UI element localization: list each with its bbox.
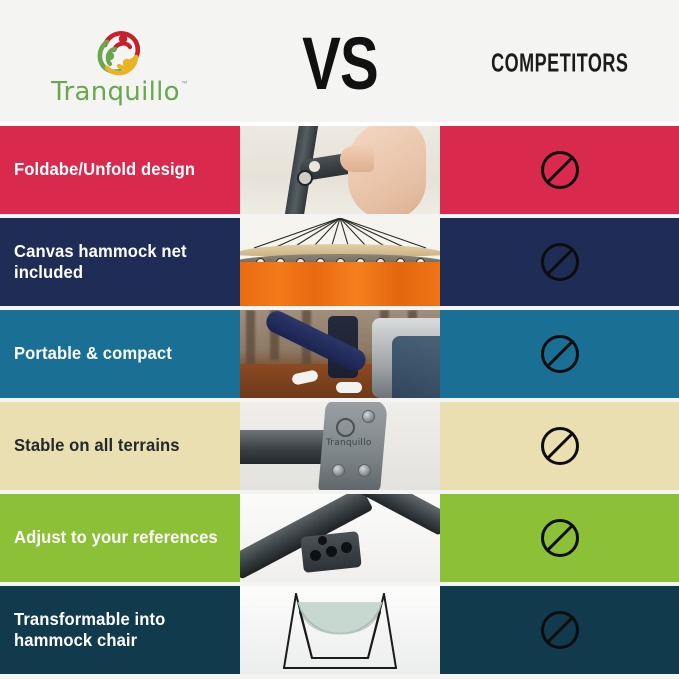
product-image-cell <box>240 310 440 398</box>
table-row: Stable on all terrains Tranquillo <box>0 402 679 490</box>
header: Tranquillo ™ VS COMPETITORS <box>0 0 679 126</box>
bracket-brand-name: Tranquillo <box>326 438 372 448</box>
no-symbol-icon <box>541 151 579 189</box>
no-symbol-icon <box>541 243 579 281</box>
competitor-mark-cell <box>440 586 679 674</box>
no-symbol-icon <box>541 335 579 373</box>
tranquillo-logo: Tranquillo ™ <box>51 25 189 105</box>
competitors-cell: COMPETITORS <box>440 0 679 126</box>
product-image-cell: Tranquillo <box>240 402 440 490</box>
feature-label: Transformable into hammock chair <box>14 609 221 652</box>
no-symbol-icon <box>541 611 579 649</box>
competitor-mark-cell <box>440 310 679 398</box>
feature-cell: Adjust to your references <box>0 494 240 582</box>
hammock-chair-photo <box>240 586 440 674</box>
product-image-cell <box>240 586 440 674</box>
competitor-mark-cell <box>440 218 679 306</box>
feature-label: Stable on all terrains <box>14 435 180 456</box>
table-row: Transformable into hammock chair <box>0 586 679 674</box>
feature-label: Foldabe/Unfold design <box>14 159 195 180</box>
competitor-mark-cell <box>440 402 679 490</box>
feature-cell: Canvas hammock net included <box>0 218 240 306</box>
no-symbol-icon <box>541 427 579 465</box>
vs-cell: VS <box>240 0 440 126</box>
feature-cell: Foldabe/Unfold design <box>0 126 240 214</box>
competitor-mark-cell <box>440 494 679 582</box>
folding-joint-photo <box>240 126 440 214</box>
feature-label: Canvas hammock net included <box>14 241 221 284</box>
adjustable-tube-photo <box>240 494 440 582</box>
vs-label: VS <box>302 26 378 100</box>
feature-cell: Stable on all terrains <box>0 402 240 490</box>
table-row: Canvas hammock net included <box>0 218 679 306</box>
product-image-cell <box>240 218 440 306</box>
no-symbol-icon <box>541 519 579 557</box>
table-row: Foldabe/Unfold design <box>0 126 679 214</box>
table-row: Adjust to your references <box>0 494 679 582</box>
feature-label: Adjust to your references <box>14 527 218 548</box>
product-image-cell <box>240 126 440 214</box>
trademark-symbol: ™ <box>181 80 189 89</box>
feature-label: Portable & compact <box>14 343 172 364</box>
brand-logo-cell: Tranquillo ™ <box>0 0 240 126</box>
feature-cell: Portable & compact <box>0 310 240 398</box>
brand-wordmark: Tranquillo <box>51 79 180 105</box>
table-row: Portable & compact <box>0 310 679 398</box>
hammock-net-photo <box>240 218 440 306</box>
portable-carry-photo <box>240 310 440 398</box>
competitors-label: COMPETITORS <box>491 48 628 79</box>
stable-foot-photo: Tranquillo <box>240 402 440 490</box>
comparison-infographic: Tranquillo ™ VS COMPETITORS Foldabe/Unfo… <box>0 0 679 679</box>
feature-cell: Transformable into hammock chair <box>0 586 240 674</box>
bracket-logo-icon <box>336 418 355 437</box>
competitor-mark-cell <box>440 126 679 214</box>
tranquillo-logo-icon <box>89 25 151 83</box>
product-image-cell <box>240 494 440 582</box>
comparison-rows: Foldabe/Unfold design <box>0 126 679 678</box>
